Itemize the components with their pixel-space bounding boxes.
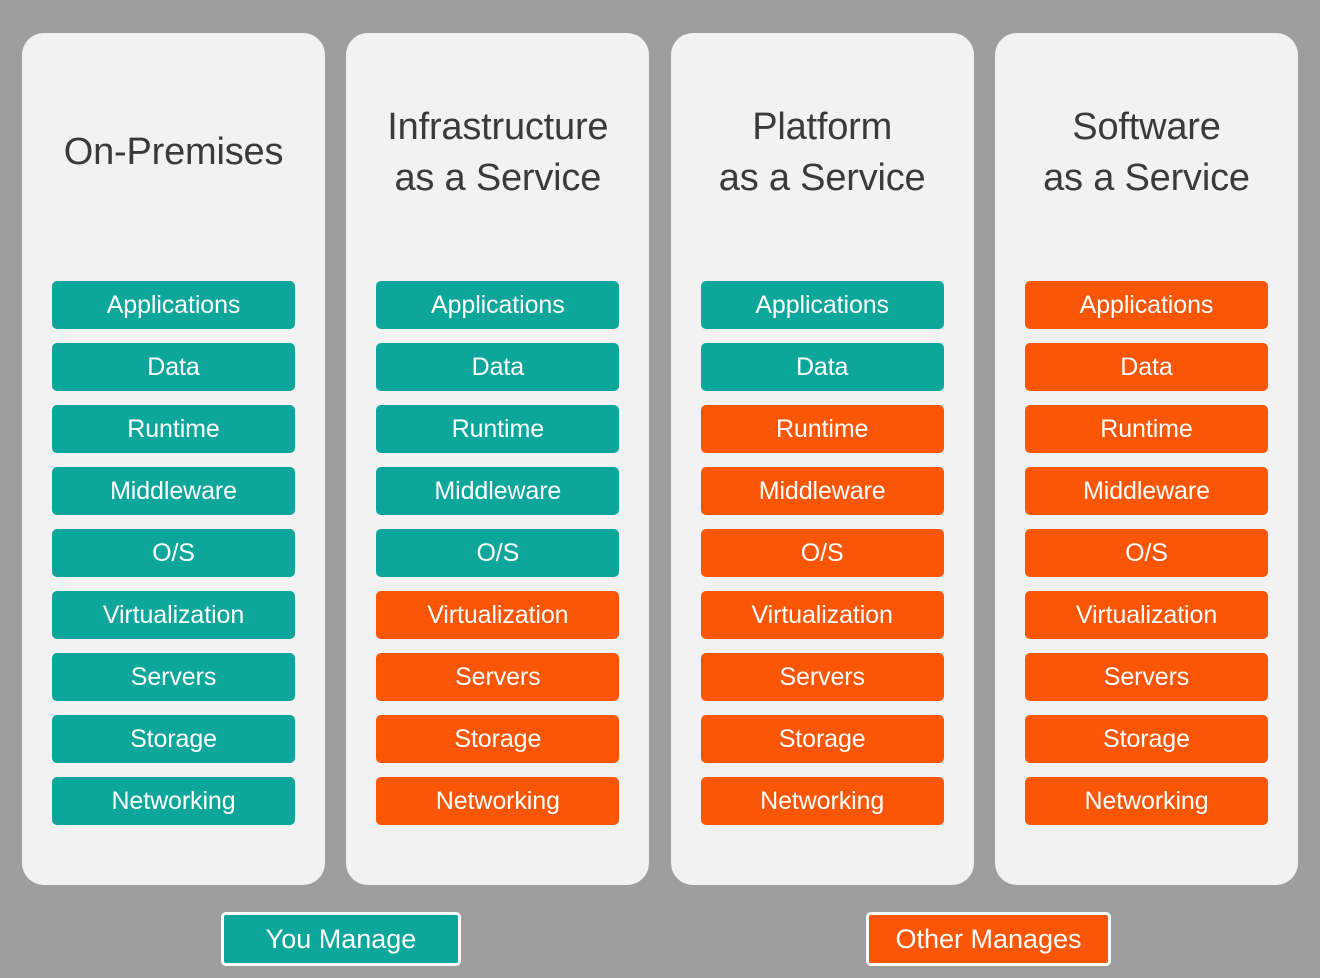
layer-infrastructure-as-a-service-data: Data [376,343,619,391]
layer-platform-as-a-service-networking: Networking [701,777,944,825]
layer-infrastructure-as-a-service-o-s: O/S [376,529,619,577]
layer-on-premises-applications: Applications [52,281,295,329]
legend: You Manage Other Manages [0,905,1320,978]
layer-software-as-a-service-middleware: Middleware [1025,467,1268,515]
layer-infrastructure-as-a-service-servers: Servers [376,653,619,701]
layer-on-premises-storage: Storage [52,715,295,763]
card-on-premises: On-PremisesApplicationsDataRuntimeMiddle… [22,33,325,885]
layer-software-as-a-service-runtime: Runtime [1025,405,1268,453]
layer-platform-as-a-service-storage: Storage [701,715,944,763]
layer-infrastructure-as-a-service-middleware: Middleware [376,467,619,515]
layer-platform-as-a-service-virtualization: Virtualization [701,591,944,639]
layer-stack-on-premises: ApplicationsDataRuntimeMiddlewareO/SVirt… [52,281,295,825]
card-infrastructure-as-a-service: Infrastructure as a ServiceApplicationsD… [346,33,649,885]
layer-software-as-a-service-virtualization: Virtualization [1025,591,1268,639]
layer-software-as-a-service-storage: Storage [1025,715,1268,763]
layer-software-as-a-service-o-s: O/S [1025,529,1268,577]
layer-stack-platform-as-a-service: ApplicationsDataRuntimeMiddlewareO/SVirt… [701,281,944,825]
layer-on-premises-servers: Servers [52,653,295,701]
layer-software-as-a-service-applications: Applications [1025,281,1268,329]
layer-infrastructure-as-a-service-runtime: Runtime [376,405,619,453]
layer-platform-as-a-service-middleware: Middleware [701,467,944,515]
layer-on-premises-middleware: Middleware [52,467,295,515]
layer-software-as-a-service-data: Data [1025,343,1268,391]
card-title-software-as-a-service: Software as a Service [1025,33,1268,281]
layer-infrastructure-as-a-service-networking: Networking [376,777,619,825]
layer-software-as-a-service-networking: Networking [1025,777,1268,825]
layer-on-premises-data: Data [52,343,295,391]
card-platform-as-a-service: Platform as a ServiceApplicationsDataRun… [671,33,974,885]
layer-platform-as-a-service-o-s: O/S [701,529,944,577]
layer-on-premises-o-s: O/S [52,529,295,577]
layer-on-premises-runtime: Runtime [52,405,295,453]
layer-platform-as-a-service-runtime: Runtime [701,405,944,453]
layer-stack-infrastructure-as-a-service: ApplicationsDataRuntimeMiddlewareO/SVirt… [376,281,619,825]
legend-other-manages: Other Manages [866,912,1111,966]
layer-infrastructure-as-a-service-virtualization: Virtualization [376,591,619,639]
layer-platform-as-a-service-applications: Applications [701,281,944,329]
card-title-infrastructure-as-a-service: Infrastructure as a Service [376,33,619,281]
card-software-as-a-service: Software as a ServiceApplicationsDataRun… [995,33,1298,885]
service-model-cards: On-PremisesApplicationsDataRuntimeMiddle… [22,33,1298,885]
cloud-service-models-diagram: On-PremisesApplicationsDataRuntimeMiddle… [0,0,1320,978]
card-title-platform-as-a-service: Platform as a Service [701,33,944,281]
layer-on-premises-networking: Networking [52,777,295,825]
layer-infrastructure-as-a-service-storage: Storage [376,715,619,763]
card-title-on-premises: On-Premises [52,33,295,281]
layer-platform-as-a-service-servers: Servers [701,653,944,701]
legend-you-manage: You Manage [221,912,461,966]
layer-stack-software-as-a-service: ApplicationsDataRuntimeMiddlewareO/SVirt… [1025,281,1268,825]
layer-software-as-a-service-servers: Servers [1025,653,1268,701]
layer-infrastructure-as-a-service-applications: Applications [376,281,619,329]
layer-platform-as-a-service-data: Data [701,343,944,391]
layer-on-premises-virtualization: Virtualization [52,591,295,639]
